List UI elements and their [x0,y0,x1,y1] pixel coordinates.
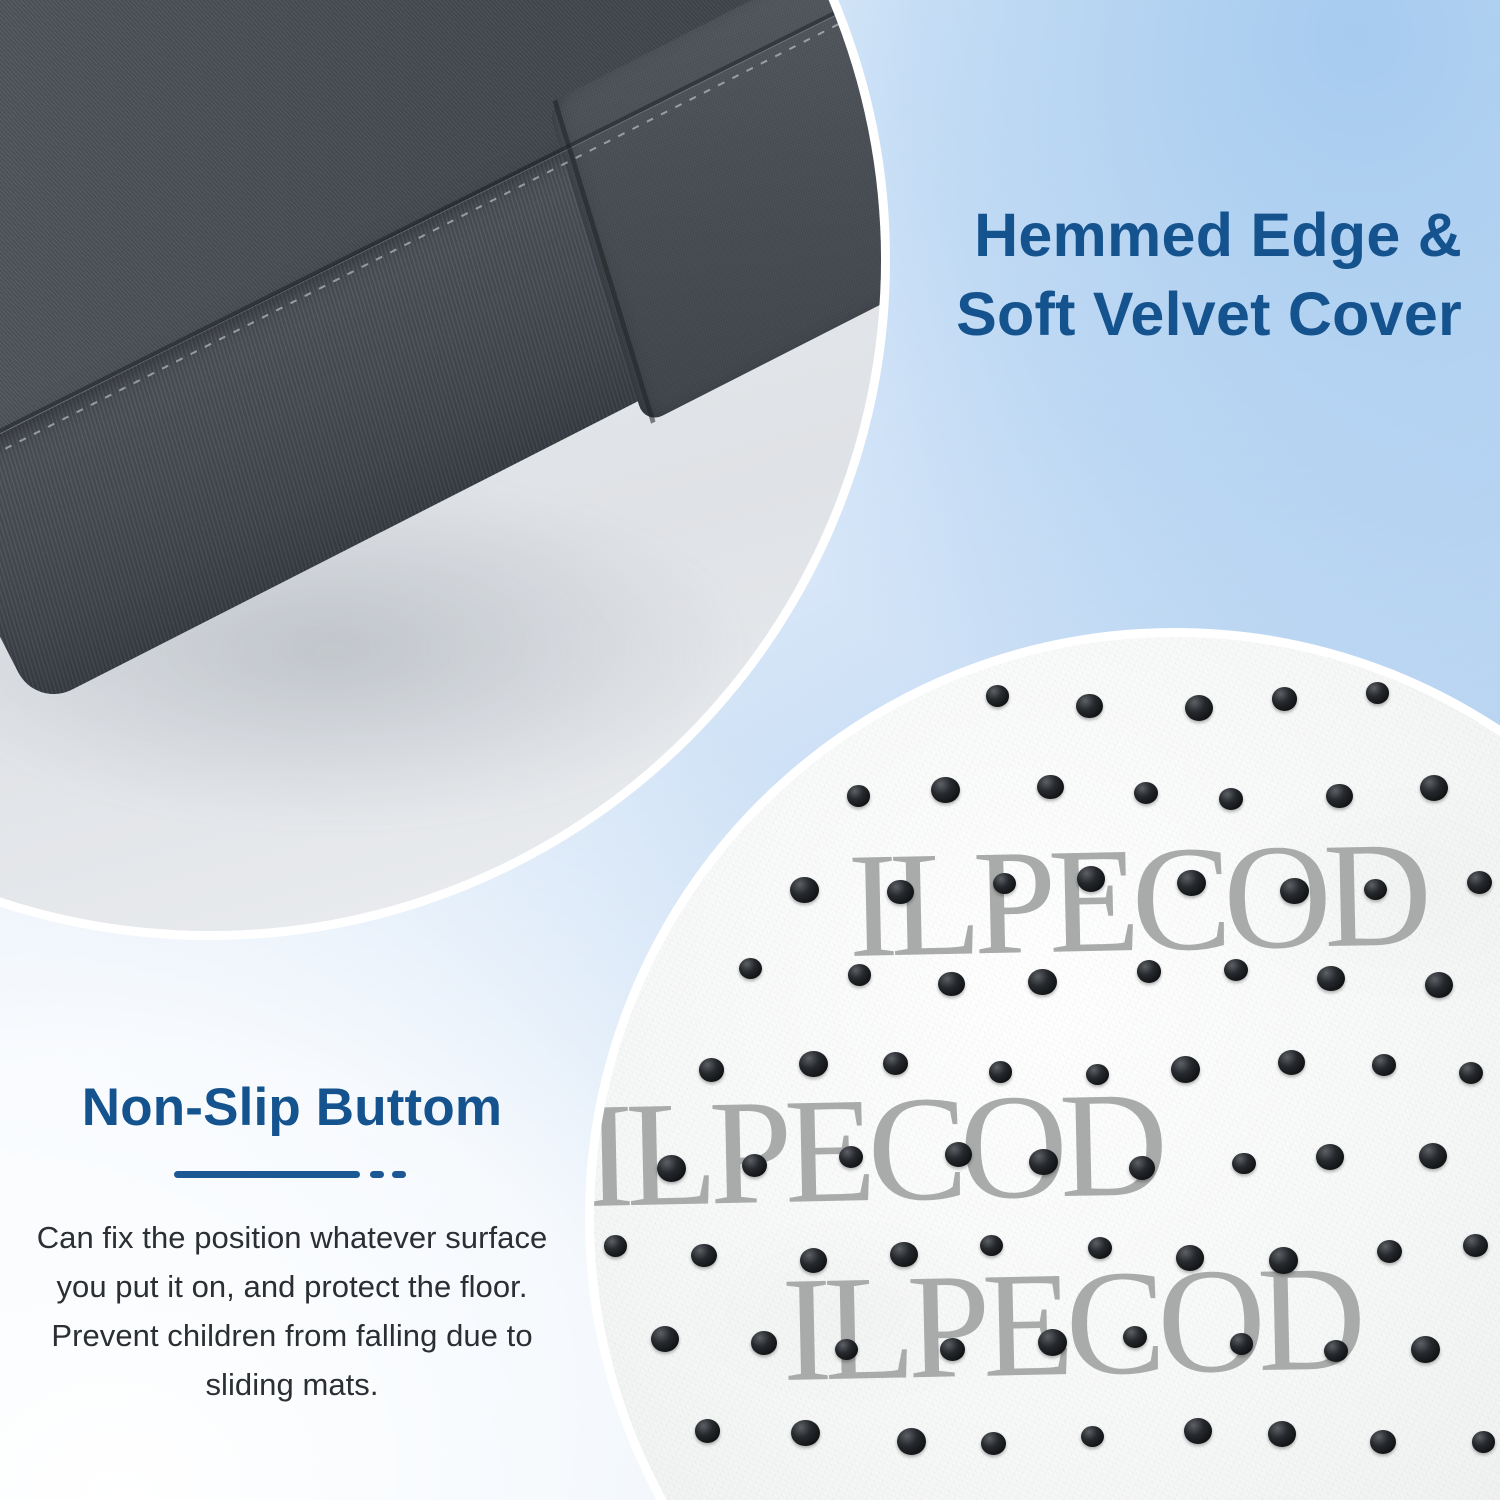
grip-dot [791,1420,820,1447]
grip-dot [890,1242,918,1267]
grip-dot [986,685,1010,707]
feature-block: Non-Slip Buttom Can fix the position wha… [12,1078,572,1410]
grip-dot [1086,1064,1109,1086]
grip-dot [1372,1054,1395,1076]
grip-dot [651,1326,679,1352]
grip-dot [897,1428,926,1455]
divider-bar [174,1171,360,1178]
grip-dot [1076,694,1103,718]
divider-dash-2 [392,1171,406,1178]
grip-dot [1324,1340,1348,1362]
grip-dot [1077,866,1105,892]
grip-dot [848,964,871,986]
grip-dot [1316,1144,1344,1170]
grip-dot [695,1419,721,1443]
grip-dot [1171,1056,1200,1083]
grip-dot [699,1058,724,1081]
grip-dot [1177,870,1206,897]
mat-watermark: ILPECOD [585,1069,1161,1231]
mat-watermark: ILPECOD [846,819,1425,981]
grip-dot [1268,1421,1296,1447]
grip-dot [1176,1245,1204,1270]
grip-dot [657,1155,686,1182]
grip-dot [940,1338,965,1361]
grip-dot [1038,1329,1067,1356]
grip-dot [1411,1336,1440,1363]
grip-dot [989,1061,1013,1083]
non-slip-mat-photo: ILPECOD ILPECOD ILPECOD [585,628,1500,1500]
grip-dot [847,785,870,807]
grip-dot [839,1146,863,1168]
grip-dot [1029,1149,1058,1175]
grip-dot [1463,1234,1488,1257]
grip-dot [691,1244,716,1267]
grip-dot [790,877,819,904]
grip-dot [938,972,965,997]
grip-dot [1317,966,1344,991]
grip-dot [1377,1240,1402,1263]
grip-dot [1278,1050,1305,1075]
grip-dot [1037,775,1064,800]
grip-dot [1232,1153,1255,1174]
grip-dot [981,1432,1006,1455]
grip-dot [1280,878,1308,904]
grip-dot [887,880,914,905]
grip-dot [883,1052,908,1075]
grip-dot [1230,1333,1253,1354]
grip-dot [1137,960,1162,983]
grip-dot [1081,1426,1104,1448]
grip-dot [604,1235,627,1256]
grip-dot [1472,1431,1495,1453]
grip-dot [1184,1418,1212,1443]
mat-photo-inner: ILPECOD ILPECOD ILPECOD [594,637,1500,1500]
feature-title: Non-Slip Buttom [12,1078,572,1137]
divider-dash-1 [370,1171,384,1178]
headline: Hemmed Edge & Soft Velvet Cover [742,196,1462,355]
product-feature-panel: ILPECOD ILPECOD ILPECOD Hemmed Edge & So… [0,0,1500,1500]
headline-line-1: Hemmed Edge & [742,196,1462,275]
headline-line-2: Soft Velvet Cover [742,275,1462,354]
divider [174,1171,410,1178]
grip-dot [751,1331,777,1355]
grip-dot [1420,775,1448,801]
grip-dot [980,1235,1003,1256]
grip-dot [1219,788,1243,810]
grip-dot [1269,1247,1298,1273]
grip-dot [1366,682,1390,704]
grip-dot [1134,782,1158,804]
grip-dot [800,1248,827,1273]
grip-dot [1467,871,1492,894]
grip-dot [1028,969,1056,995]
grip-dot [1272,687,1297,710]
feature-body: Can fix the position whatever surface yo… [12,1214,572,1410]
grip-dot [1370,1430,1396,1454]
grip-dot [993,873,1016,894]
